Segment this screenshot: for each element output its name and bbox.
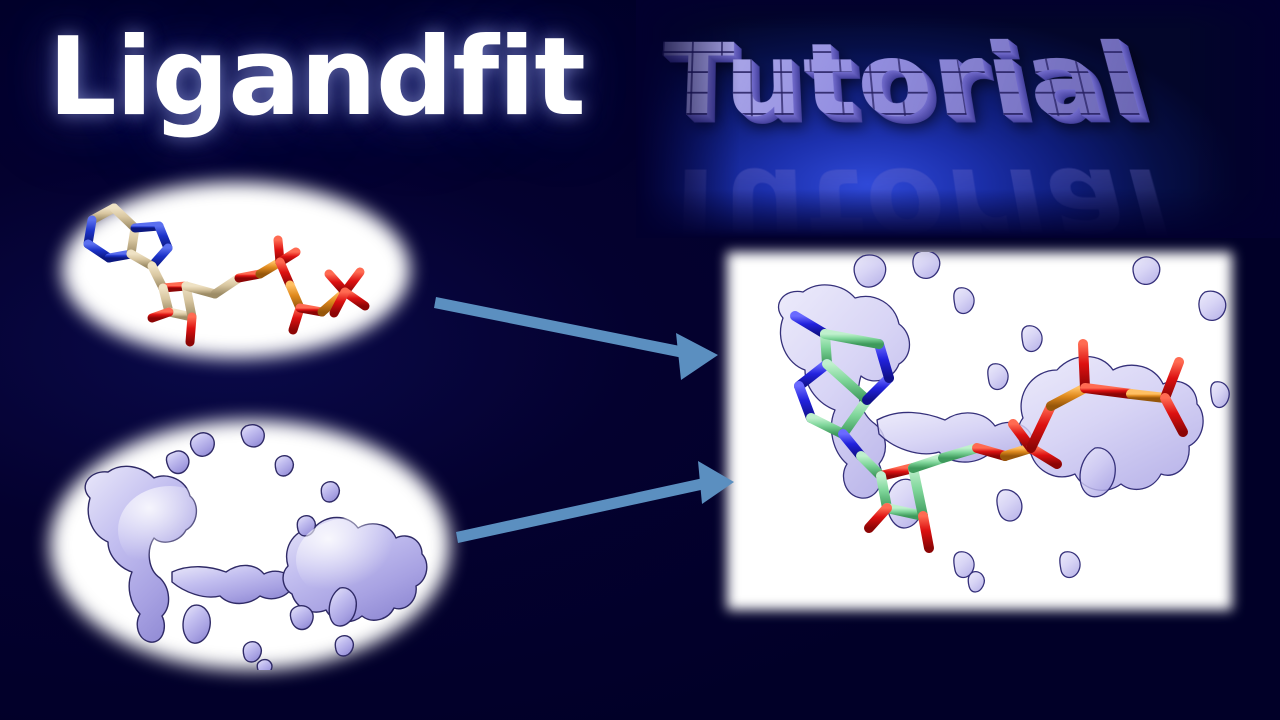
density-to-fit-arrow — [456, 461, 734, 543]
slide-canvas: Ligandfit Tutorial Tutorial Tutorial — [0, 0, 1280, 720]
arrow-layer — [0, 0, 1280, 720]
ligand-to-fit-arrow — [434, 297, 718, 380]
